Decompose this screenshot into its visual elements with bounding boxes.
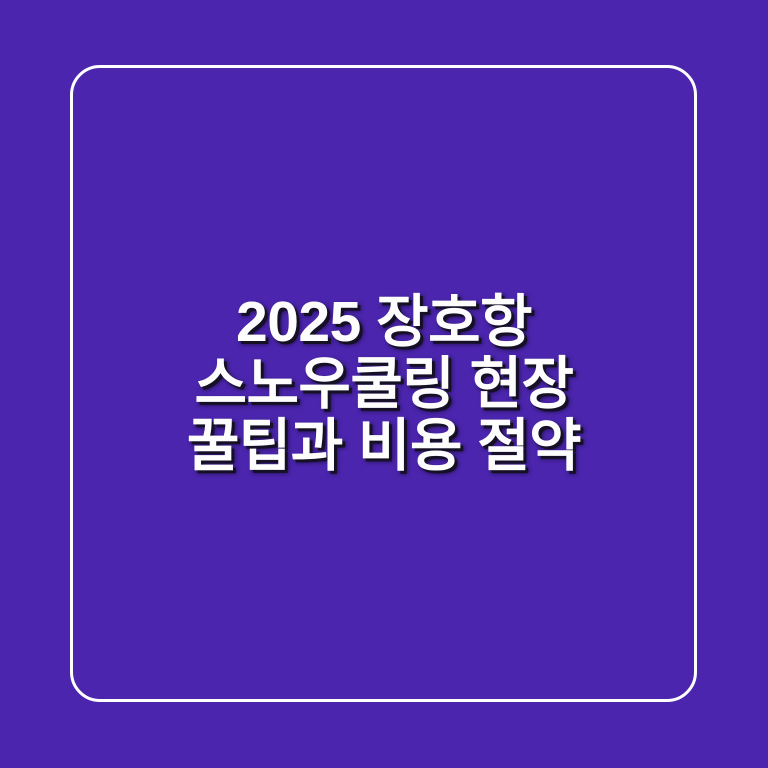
title-line-2: 스노우쿨링 현장 bbox=[90, 353, 678, 415]
title-line-1: 2025 장호항 bbox=[90, 291, 678, 353]
title-line-3: 꿀팁과 비용 절약 bbox=[90, 415, 678, 477]
title-block: 2025 장호항 스노우쿨링 현장 꿀팁과 비용 절약 bbox=[0, 0, 768, 768]
poster-canvas: 2025 장호항 스노우쿨링 현장 꿀팁과 비용 절약 bbox=[0, 0, 768, 768]
